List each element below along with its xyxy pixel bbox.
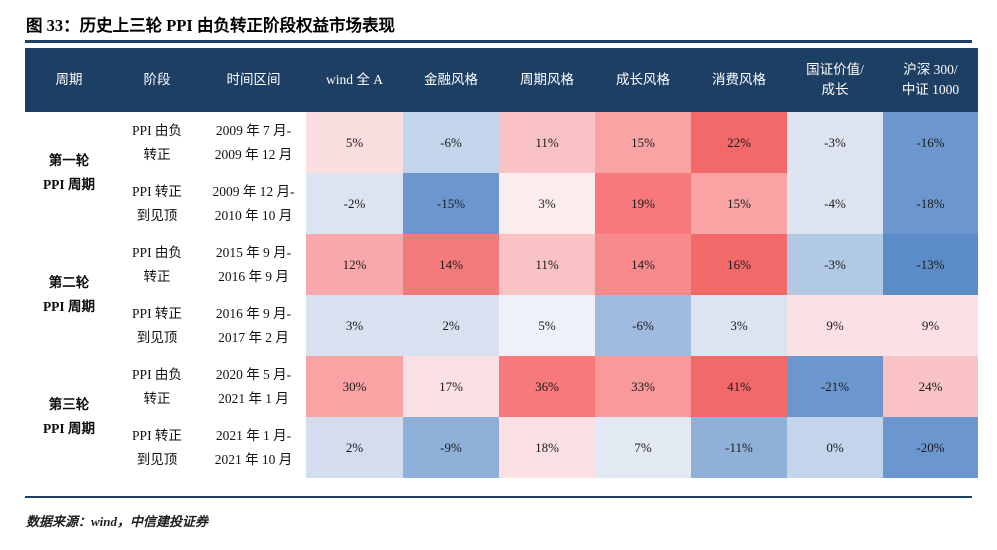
stage-label: PPI 转正 到见顶 xyxy=(113,417,201,478)
value-cell: 15% xyxy=(595,112,691,173)
header-cell-stage: 阶段 xyxy=(113,48,201,112)
header-cell-value-growth-ratio: 国证价值/ 成长 xyxy=(787,48,883,112)
table-row: 第三轮 PPI 周期 PPI 由负 转正 2020 年 5 月- 2021 年 … xyxy=(25,356,978,417)
header-cell-consumer-style: 消费风格 xyxy=(691,48,787,112)
value-cell: 11% xyxy=(499,234,595,295)
value-cell: 14% xyxy=(403,234,499,295)
value-cell: -21% xyxy=(787,356,883,417)
header-cell-cyclical-style: 周期风格 xyxy=(499,48,595,112)
time-range-label: 2009 年 7 月- 2009 年 12 月 xyxy=(201,112,306,173)
value-cell: 2% xyxy=(403,295,499,356)
value-cell: 22% xyxy=(691,112,787,173)
source-divider xyxy=(25,496,972,498)
table-row: PPI 转正 到见顶 2016 年 9 月- 2017 年 2 月 3% 2% … xyxy=(25,295,978,356)
time-range-label: 2020 年 5 月- 2021 年 1 月 xyxy=(201,356,306,417)
value-cell: 30% xyxy=(306,356,403,417)
value-cell: 41% xyxy=(691,356,787,417)
table-row: PPI 转正 到见顶 2009 年 12 月- 2010 年 10 月 -2% … xyxy=(25,173,978,234)
cycle-label: 第二轮 PPI 周期 xyxy=(25,234,113,356)
cycle-label: 第三轮 PPI 周期 xyxy=(25,356,113,478)
table-header-row: 周期 阶段 时间区间 wind 全 A 金融风格 周期风格 成长 xyxy=(25,48,978,112)
table-row: PPI 转正 到见顶 2021 年 1 月- 2021 年 10 月 2% -9… xyxy=(25,417,978,478)
table-row: 第一轮 PPI 周期 PPI 由负 转正 2009 年 7 月- 2009 年 … xyxy=(25,112,978,173)
value-cell: 3% xyxy=(691,295,787,356)
stage-label: PPI 由负 转正 xyxy=(113,112,201,173)
value-cell: 2% xyxy=(306,417,403,478)
value-cell: -4% xyxy=(787,173,883,234)
value-cell: 9% xyxy=(787,295,883,356)
value-cell: 24% xyxy=(883,356,978,417)
header-cell-wind-all-a: wind 全 A xyxy=(306,48,403,112)
value-cell: 12% xyxy=(306,234,403,295)
value-cell: -3% xyxy=(787,234,883,295)
value-cell: -16% xyxy=(883,112,978,173)
value-cell: 7% xyxy=(595,417,691,478)
value-cell: 3% xyxy=(499,173,595,234)
figure-title: 图 33：历史上三轮 PPI 由负转正阶段权益市场表现 xyxy=(26,12,395,36)
stage-label: PPI 由负 转正 xyxy=(113,234,201,295)
value-cell: -20% xyxy=(883,417,978,478)
value-cell: 3% xyxy=(306,295,403,356)
value-cell: 5% xyxy=(306,112,403,173)
ppi-equity-table: 周期 阶段 时间区间 wind 全 A 金融风格 周期风格 成长 xyxy=(25,48,978,478)
header-cell-cycle: 周期 xyxy=(25,48,113,112)
value-cell: -6% xyxy=(595,295,691,356)
value-cell: -11% xyxy=(691,417,787,478)
table-body: 第一轮 PPI 周期 PPI 由负 转正 2009 年 7 月- 2009 年 … xyxy=(25,112,978,478)
value-cell: -18% xyxy=(883,173,978,234)
value-cell: 14% xyxy=(595,234,691,295)
header-cell-time-range: 时间区间 xyxy=(201,48,306,112)
value-cell: -9% xyxy=(403,417,499,478)
header-cell-csi300-csi1000-ratio: 沪深 300/ 中证 1000 xyxy=(883,48,978,112)
stage-label: PPI 由负 转正 xyxy=(113,356,201,417)
figure-container: 图 33：历史上三轮 PPI 由负转正阶段权益市场表现 周期 阶段 时间区间 w… xyxy=(0,0,997,550)
time-range-label: 2009 年 12 月- 2010 年 10 月 xyxy=(201,173,306,234)
value-cell: 36% xyxy=(499,356,595,417)
value-cell: 16% xyxy=(691,234,787,295)
value-cell: 9% xyxy=(883,295,978,356)
cycle-label: 第一轮 PPI 周期 xyxy=(25,112,113,234)
stage-label: PPI 转正 到见顶 xyxy=(113,173,201,234)
value-cell: 11% xyxy=(499,112,595,173)
stage-label: PPI 转正 到见顶 xyxy=(113,295,201,356)
value-cell: -13% xyxy=(883,234,978,295)
value-cell: 15% xyxy=(691,173,787,234)
value-cell: 18% xyxy=(499,417,595,478)
value-cell: 17% xyxy=(403,356,499,417)
value-cell: 5% xyxy=(499,295,595,356)
time-range-label: 2021 年 1 月- 2021 年 10 月 xyxy=(201,417,306,478)
value-cell: -6% xyxy=(403,112,499,173)
time-range-label: 2015 年 9 月- 2016 年 9 月 xyxy=(201,234,306,295)
time-range-label: 2016 年 9 月- 2017 年 2 月 xyxy=(201,295,306,356)
value-cell: 0% xyxy=(787,417,883,478)
header-cell-growth-style: 成长风格 xyxy=(595,48,691,112)
value-cell: 33% xyxy=(595,356,691,417)
value-cell: 19% xyxy=(595,173,691,234)
value-cell: -2% xyxy=(306,173,403,234)
title-divider xyxy=(25,40,972,43)
source-note: 数据来源：wind，中信建投证券 xyxy=(26,511,208,530)
header-cell-financial-style: 金融风格 xyxy=(403,48,499,112)
table-row: 第二轮 PPI 周期 PPI 由负 转正 2015 年 9 月- 2016 年 … xyxy=(25,234,978,295)
value-cell: -15% xyxy=(403,173,499,234)
value-cell: -3% xyxy=(787,112,883,173)
